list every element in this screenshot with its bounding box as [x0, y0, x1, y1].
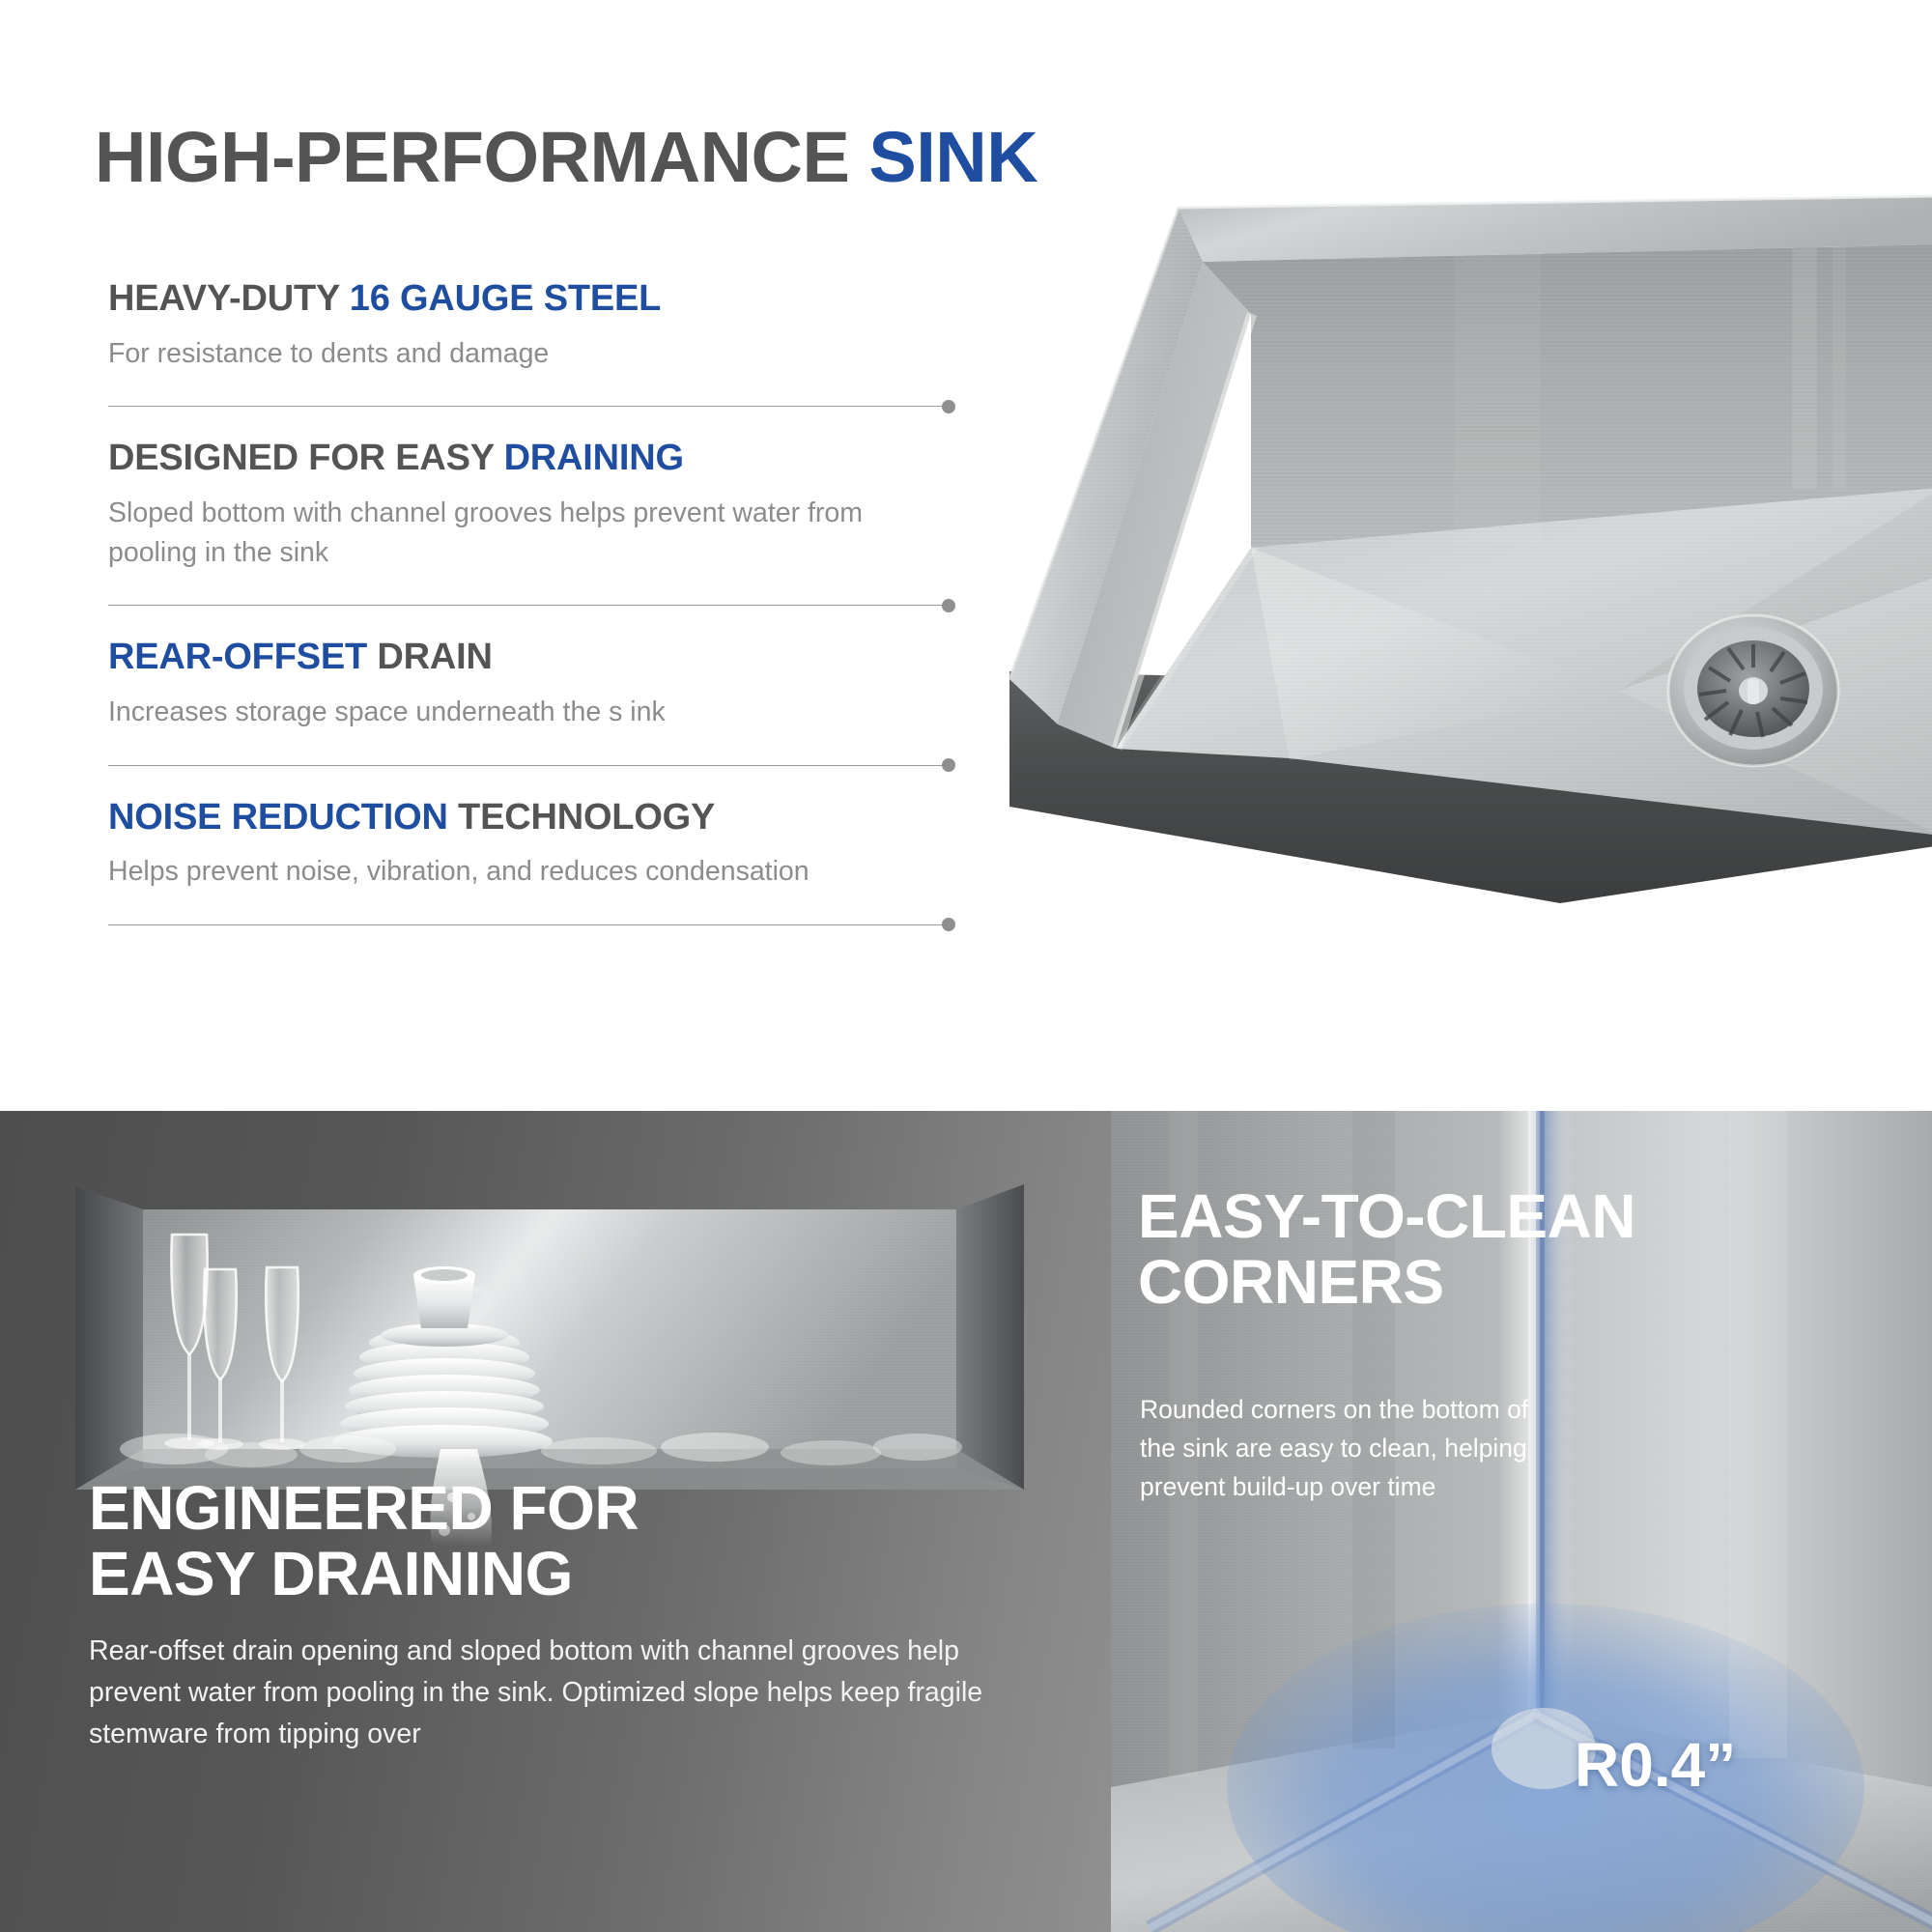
engineered-body: Rear-offset drain opening and sloped bot…	[89, 1631, 1016, 1754]
stainless-steel-sink-product-photo	[1000, 169, 1932, 903]
feature-heading-accent: REAR-OFFSET	[108, 637, 367, 677]
feature-heading: DESIGNED FOR EASY DRAINING	[108, 440, 978, 478]
feature-body: For resistance to dents and damage	[108, 334, 939, 373]
feature-heading-plain-2: TECHNOLOGY	[448, 797, 715, 838]
feature-heading: REAR-OFFSET DRAIN	[108, 639, 978, 677]
feature-body: Increases storage space underneath the s…	[108, 693, 939, 731]
feature-body: Helps prevent noise, vibration, and redu…	[108, 852, 939, 891]
page-title-plain: HIGH-PERFORMANCE	[95, 117, 868, 197]
feature-item-easy-draining: DESIGNED FOR EASY DRAINING Sloped bottom…	[108, 440, 978, 572]
radius-badge: R0.4”	[1575, 1729, 1736, 1801]
feature-item-rear-offset-drain: REAR-OFFSET DRAIN Increases storage spac…	[108, 639, 978, 731]
corners-body: Rounded corners on the bottom of the sin…	[1140, 1391, 1555, 1506]
feature-list: HEAVY-DUTY 16 GAUGE STEEL For resistance…	[108, 280, 978, 958]
feature-body: Sloped bottom with channel grooves helps…	[108, 494, 939, 572]
feature-heading-accent: DRAINING	[504, 438, 684, 478]
feature-heading-accent: NOISE REDUCTION	[108, 797, 448, 838]
feature-divider	[108, 765, 949, 766]
engineered-heading-line1: ENGINEERED FOR	[89, 1476, 639, 1542]
engineered-heading-line2: EASY DRAINING	[89, 1542, 639, 1607]
feature-divider	[108, 406, 949, 407]
drain-strainer	[1668, 615, 1838, 766]
top-section: HIGH-PERFORMANCE SINK HEAVY-DUTY 16 GAUG…	[0, 0, 1932, 1111]
corners-heading-line1: EASY-TO-CLEAN	[1138, 1184, 1911, 1250]
feature-item-noise-reduction: NOISE REDUCTION TECHNOLOGY Helps prevent…	[108, 799, 978, 892]
bottom-left-panel: ENGINEERED FOR EASY DRAINING Rear-offset…	[0, 1111, 1111, 1932]
feature-heading-accent: 16 GAUGE STEEL	[350, 278, 661, 319]
bottom-section: ENGINEERED FOR EASY DRAINING Rear-offset…	[0, 1111, 1932, 1932]
feature-divider	[108, 605, 949, 606]
feature-divider	[108, 924, 949, 925]
feature-heading: HEAVY-DUTY 16 GAUGE STEEL	[108, 280, 978, 319]
page-title: HIGH-PERFORMANCE SINK	[95, 122, 1037, 193]
corners-heading: EASY-TO-CLEAN CORNERS	[1138, 1184, 1911, 1316]
engineered-heading: ENGINEERED FOR EASY DRAINING	[89, 1476, 639, 1607]
feature-item-heavy-duty-steel: HEAVY-DUTY 16 GAUGE STEEL For resistance…	[108, 280, 978, 373]
feature-heading-plain-1: HEAVY-DUTY	[108, 278, 350, 319]
feature-heading: NOISE REDUCTION TECHNOLOGY	[108, 799, 978, 838]
feature-heading-plain-1: DESIGNED FOR EASY	[108, 438, 504, 478]
bottom-right-panel: EASY-TO-CLEAN CORNERS Rounded corners on…	[1111, 1111, 1932, 1932]
corners-heading-line2: CORNERS	[1138, 1250, 1911, 1316]
feature-heading-plain-2: DRAIN	[367, 637, 493, 677]
